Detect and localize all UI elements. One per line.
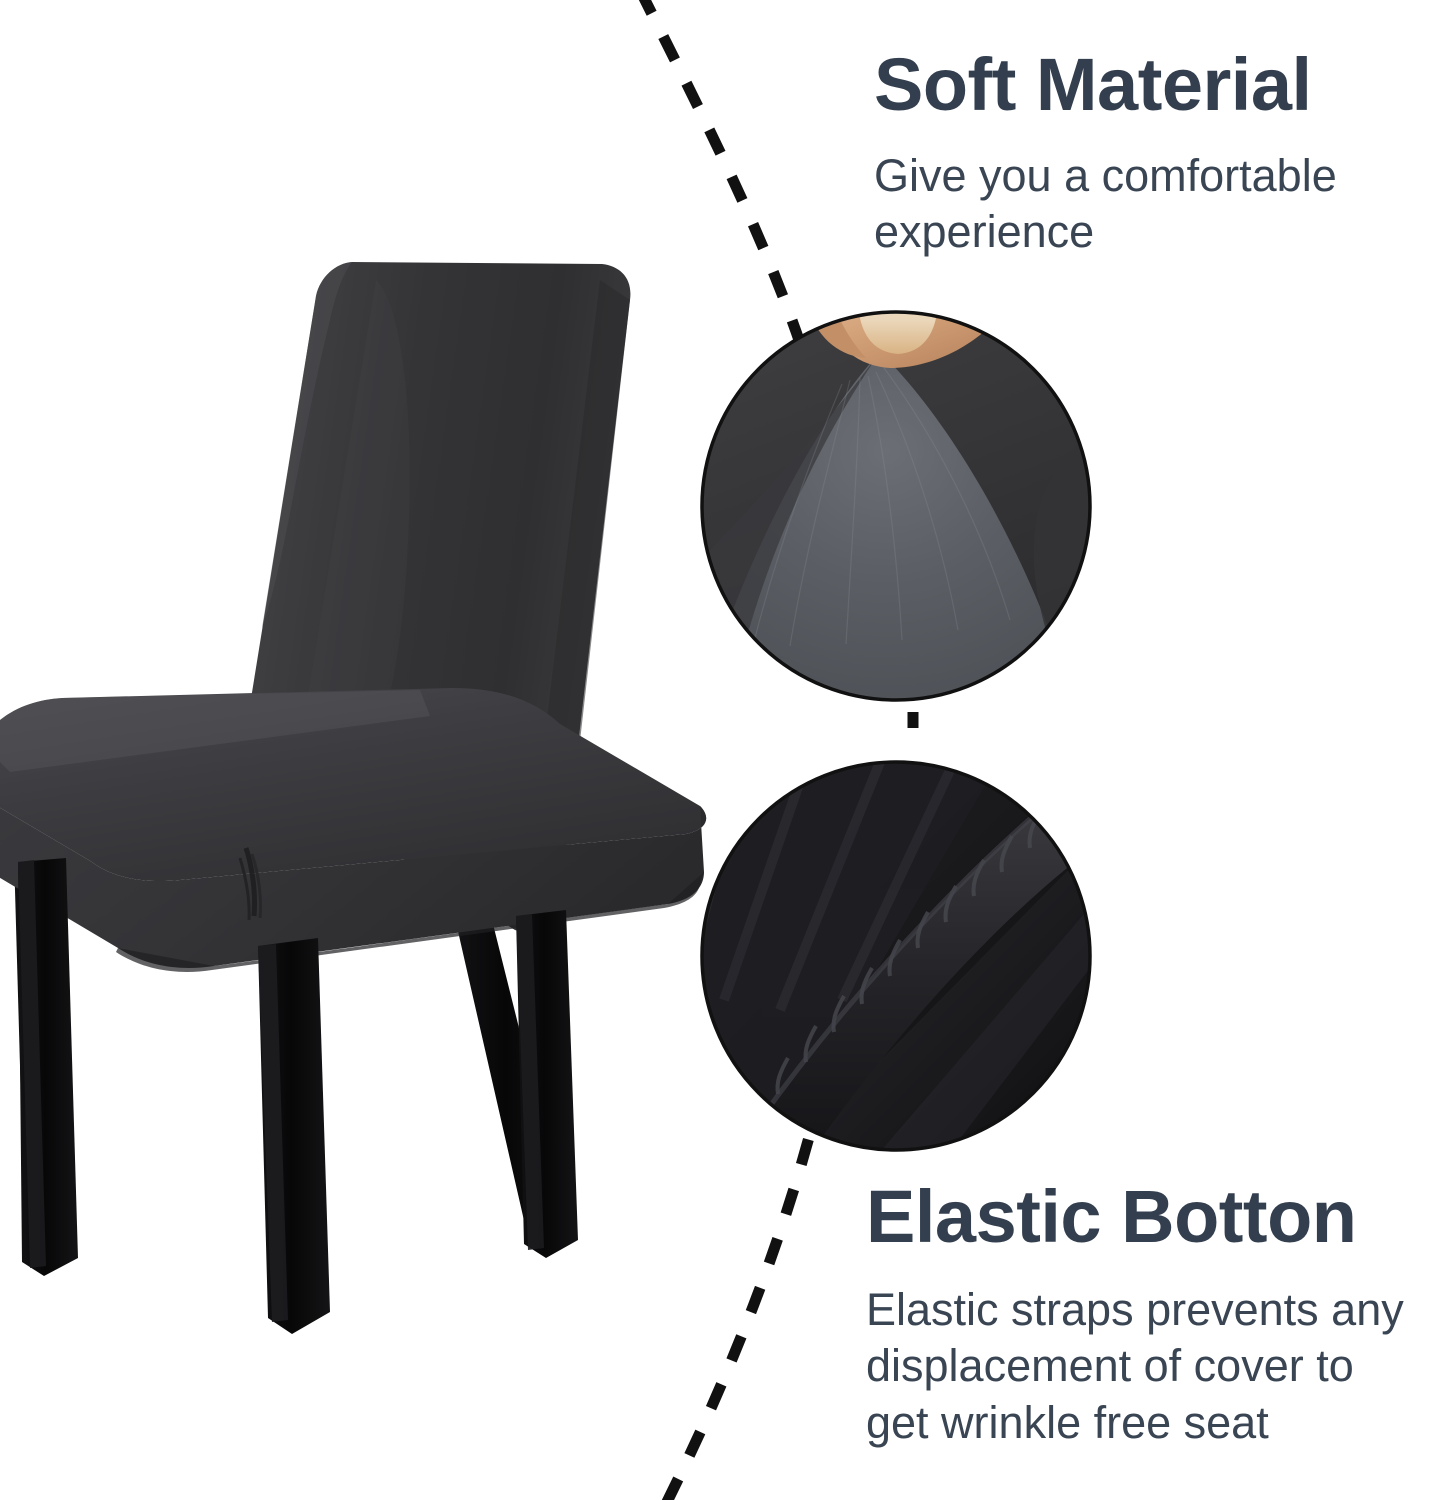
elastic-botton-body: Elastic straps prevents any displacement… <box>866 1282 1404 1452</box>
elastic-botton-body-line-3: get wrinkle free seat <box>866 1395 1404 1452</box>
elastic-botton-heading: Elastic Botton <box>866 1178 1404 1256</box>
soft-material-body-line-2: experience <box>874 204 1337 261</box>
fabric-stretch-detail-circle <box>700 280 1096 706</box>
elastic-botton-body-line-1: Elastic straps prevents any <box>866 1282 1404 1339</box>
dashed-divider-arc <box>640 0 856 1500</box>
elastic-band-detail-circle <box>700 760 1096 1160</box>
soft-material-body: Give you a comfortable experience <box>874 148 1337 261</box>
feature-block-soft-material: Soft Material Give you a comfortable exp… <box>874 46 1337 261</box>
soft-material-heading: Soft Material <box>874 46 1337 124</box>
elastic-botton-body-line-2: displacement of cover to <box>866 1338 1404 1395</box>
infographic-page: Soft Material Give you a comfortable exp… <box>0 0 1445 1500</box>
feature-block-elastic-botton: Elastic Botton Elastic straps prevents a… <box>866 1178 1404 1452</box>
soft-material-body-line-1: Give you a comfortable <box>874 148 1337 205</box>
chair-illustration <box>0 262 706 1334</box>
